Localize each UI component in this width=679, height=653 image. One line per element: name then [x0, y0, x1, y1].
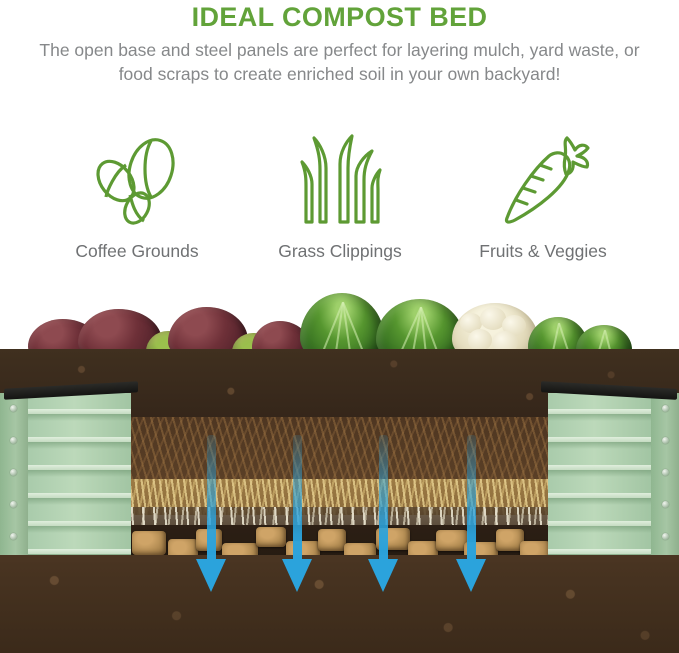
page-subtitle: The open base and steel panels are perfe…: [0, 38, 679, 86]
screw: [10, 405, 17, 412]
screw: [10, 437, 17, 444]
grass-blades-icon: [240, 132, 440, 232]
screw: [10, 501, 17, 508]
arrow-shaft: [467, 435, 476, 563]
arrow-head: [196, 559, 226, 592]
raised-garden-bed-cross-section: [0, 287, 679, 653]
screw: [662, 469, 669, 476]
ground-soil: [0, 555, 679, 653]
carrot-icon: [443, 132, 643, 232]
compost-materials-row: Coffee Grounds Grass Clippings: [0, 132, 679, 287]
screw: [10, 533, 17, 540]
screw: [662, 405, 669, 412]
product-feature-image: IDEAL COMPOST BED The open base and stee…: [0, 0, 679, 653]
feature-label: Fruits & Veggies: [443, 240, 643, 263]
feature-grass-clippings: Grass Clippings: [240, 132, 440, 263]
coffee-beans-icon: [37, 132, 237, 232]
feature-label: Grass Clippings: [240, 240, 440, 263]
arrow-shaft: [293, 435, 302, 563]
screw: [10, 469, 17, 476]
header: IDEAL COMPOST BED The open base and stee…: [0, 0, 679, 86]
arrow-shaft: [379, 435, 388, 563]
arrow-shaft: [207, 435, 216, 563]
feature-coffee-grounds: Coffee Grounds: [37, 132, 237, 263]
arrow-head: [368, 559, 398, 592]
screw: [662, 437, 669, 444]
screw: [662, 533, 669, 540]
arrow-head: [282, 559, 312, 592]
feature-label: Coffee Grounds: [37, 240, 237, 263]
arrow-head: [456, 559, 486, 592]
screw: [662, 501, 669, 508]
feature-fruits-veggies: Fruits & Veggies: [443, 132, 643, 263]
page-title: IDEAL COMPOST BED: [0, 2, 679, 32]
